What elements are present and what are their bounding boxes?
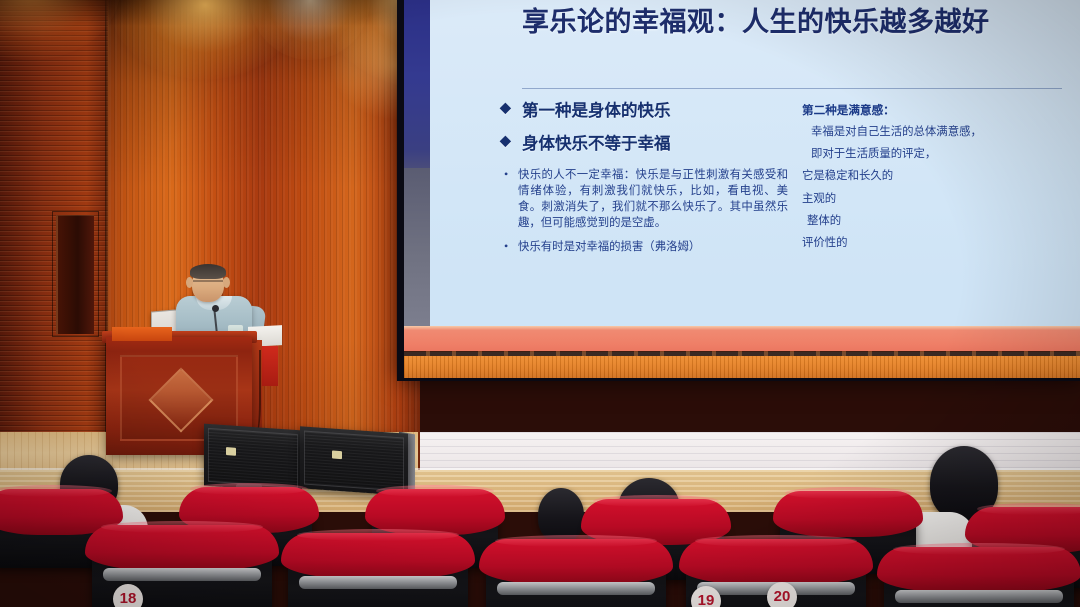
speaker-ear xyxy=(186,277,193,288)
seat-rim-highlight xyxy=(376,485,494,497)
seat-armrest-bar xyxy=(497,582,655,595)
monitor-grill xyxy=(304,431,404,492)
slide-footer-bar xyxy=(404,326,1080,352)
seat-rim xyxy=(281,533,475,579)
slide-right-line-6: 评价性的 xyxy=(802,235,1070,251)
seat[interactable] xyxy=(486,548,666,607)
seat-rim-highlight xyxy=(785,487,911,499)
slide-heading-2: 身体快乐不等于幸福 xyxy=(500,133,788,154)
speaker-ear xyxy=(223,277,230,288)
slide-right-line-4: 主观的 xyxy=(802,191,1070,207)
seat-rim-highlight xyxy=(593,495,719,507)
microphone-icon xyxy=(212,305,219,312)
seat-armrest-bar xyxy=(103,568,261,581)
slide-bullet-2: 快乐有时是对幸福的损害（弗洛姆） xyxy=(500,239,788,255)
seat-rim-highlight xyxy=(495,535,658,547)
seat-rim xyxy=(877,547,1080,593)
slide-right-line-5: 整体的 xyxy=(802,213,1070,229)
seat-rim xyxy=(773,491,923,537)
slide-left-column: 第一种是身体的快乐 身体快乐不等于幸福 快乐的人不一定幸福：快乐是与正性刺激有关… xyxy=(500,100,788,262)
slide-left-navy-band xyxy=(404,0,430,170)
seat-rim-highlight xyxy=(101,521,264,533)
seat-armrest-bar xyxy=(299,576,457,589)
seat-rim-highlight xyxy=(297,529,460,541)
seat-rim-highlight xyxy=(190,483,308,495)
seat-armrest-bar xyxy=(895,590,1062,603)
glasses-icon xyxy=(193,280,223,289)
stage-monitor xyxy=(300,426,408,496)
slide-heading-1: 第一种是身体的快乐 xyxy=(500,100,788,121)
monitor-led xyxy=(332,450,342,459)
seat-number: 18 xyxy=(113,584,143,607)
seat-rim xyxy=(85,525,279,571)
screen-bottom-wood-lip xyxy=(404,356,1080,378)
seat[interactable] xyxy=(884,556,1074,607)
ceiling-shadow xyxy=(0,0,420,26)
monitor-led xyxy=(226,447,236,456)
monitor-grill xyxy=(208,428,298,488)
audience-head xyxy=(538,488,584,542)
podium-sign xyxy=(112,327,172,341)
slide-body: 第一种是身体的快乐 身体快乐不等于幸福 快乐的人不一定幸福：快乐是与正性刺激有关… xyxy=(500,100,1070,262)
slide-right-heading: 第二种是满意感： xyxy=(802,102,1070,118)
slide-title: 享乐论的幸福观：人生的快乐越多越好 xyxy=(522,6,1062,39)
seat-rim xyxy=(479,539,673,585)
slide-title-divider xyxy=(522,88,1062,89)
speaker-hair xyxy=(190,264,226,279)
seat-rim-highlight xyxy=(893,543,1064,555)
seat[interactable] xyxy=(288,542,468,607)
slide-right-column: 第二种是满意感： 幸福是对自己生活的总体满意感， 即对于生活质量的评定， 它是稳… xyxy=(802,100,1070,262)
slide-bullet-1: 快乐的人不一定幸福：快乐是与正性刺激有关感受和情绪体验，有刺激我们就快乐，比如，… xyxy=(500,167,788,232)
slide-right-line-2: 即对于生活质量的评定， xyxy=(802,146,1070,162)
seat-rim-highlight xyxy=(695,535,858,547)
seat-rim-highlight xyxy=(0,485,112,497)
lecture-hall-photo: 享乐论的幸福观：人生的快乐越多越好 第一种是身体的快乐 身体快乐不等于幸福 快乐… xyxy=(0,0,1080,607)
seat-rim-highlight xyxy=(977,503,1080,515)
seat-number: 20 xyxy=(767,582,797,607)
seat-rim xyxy=(679,539,873,585)
slide-left-gray-band xyxy=(404,168,430,338)
slide-right-line-1: 幸福是对自己生活的总体满意感， xyxy=(802,124,1070,140)
stage-door xyxy=(56,215,94,334)
projection-screen: 享乐论的幸福观：人生的快乐越多越好 第一种是身体的快乐 身体快乐不等于幸福 快乐… xyxy=(404,0,1080,378)
slide-right-line-3: 它是稳定和长久的 xyxy=(802,168,1070,184)
